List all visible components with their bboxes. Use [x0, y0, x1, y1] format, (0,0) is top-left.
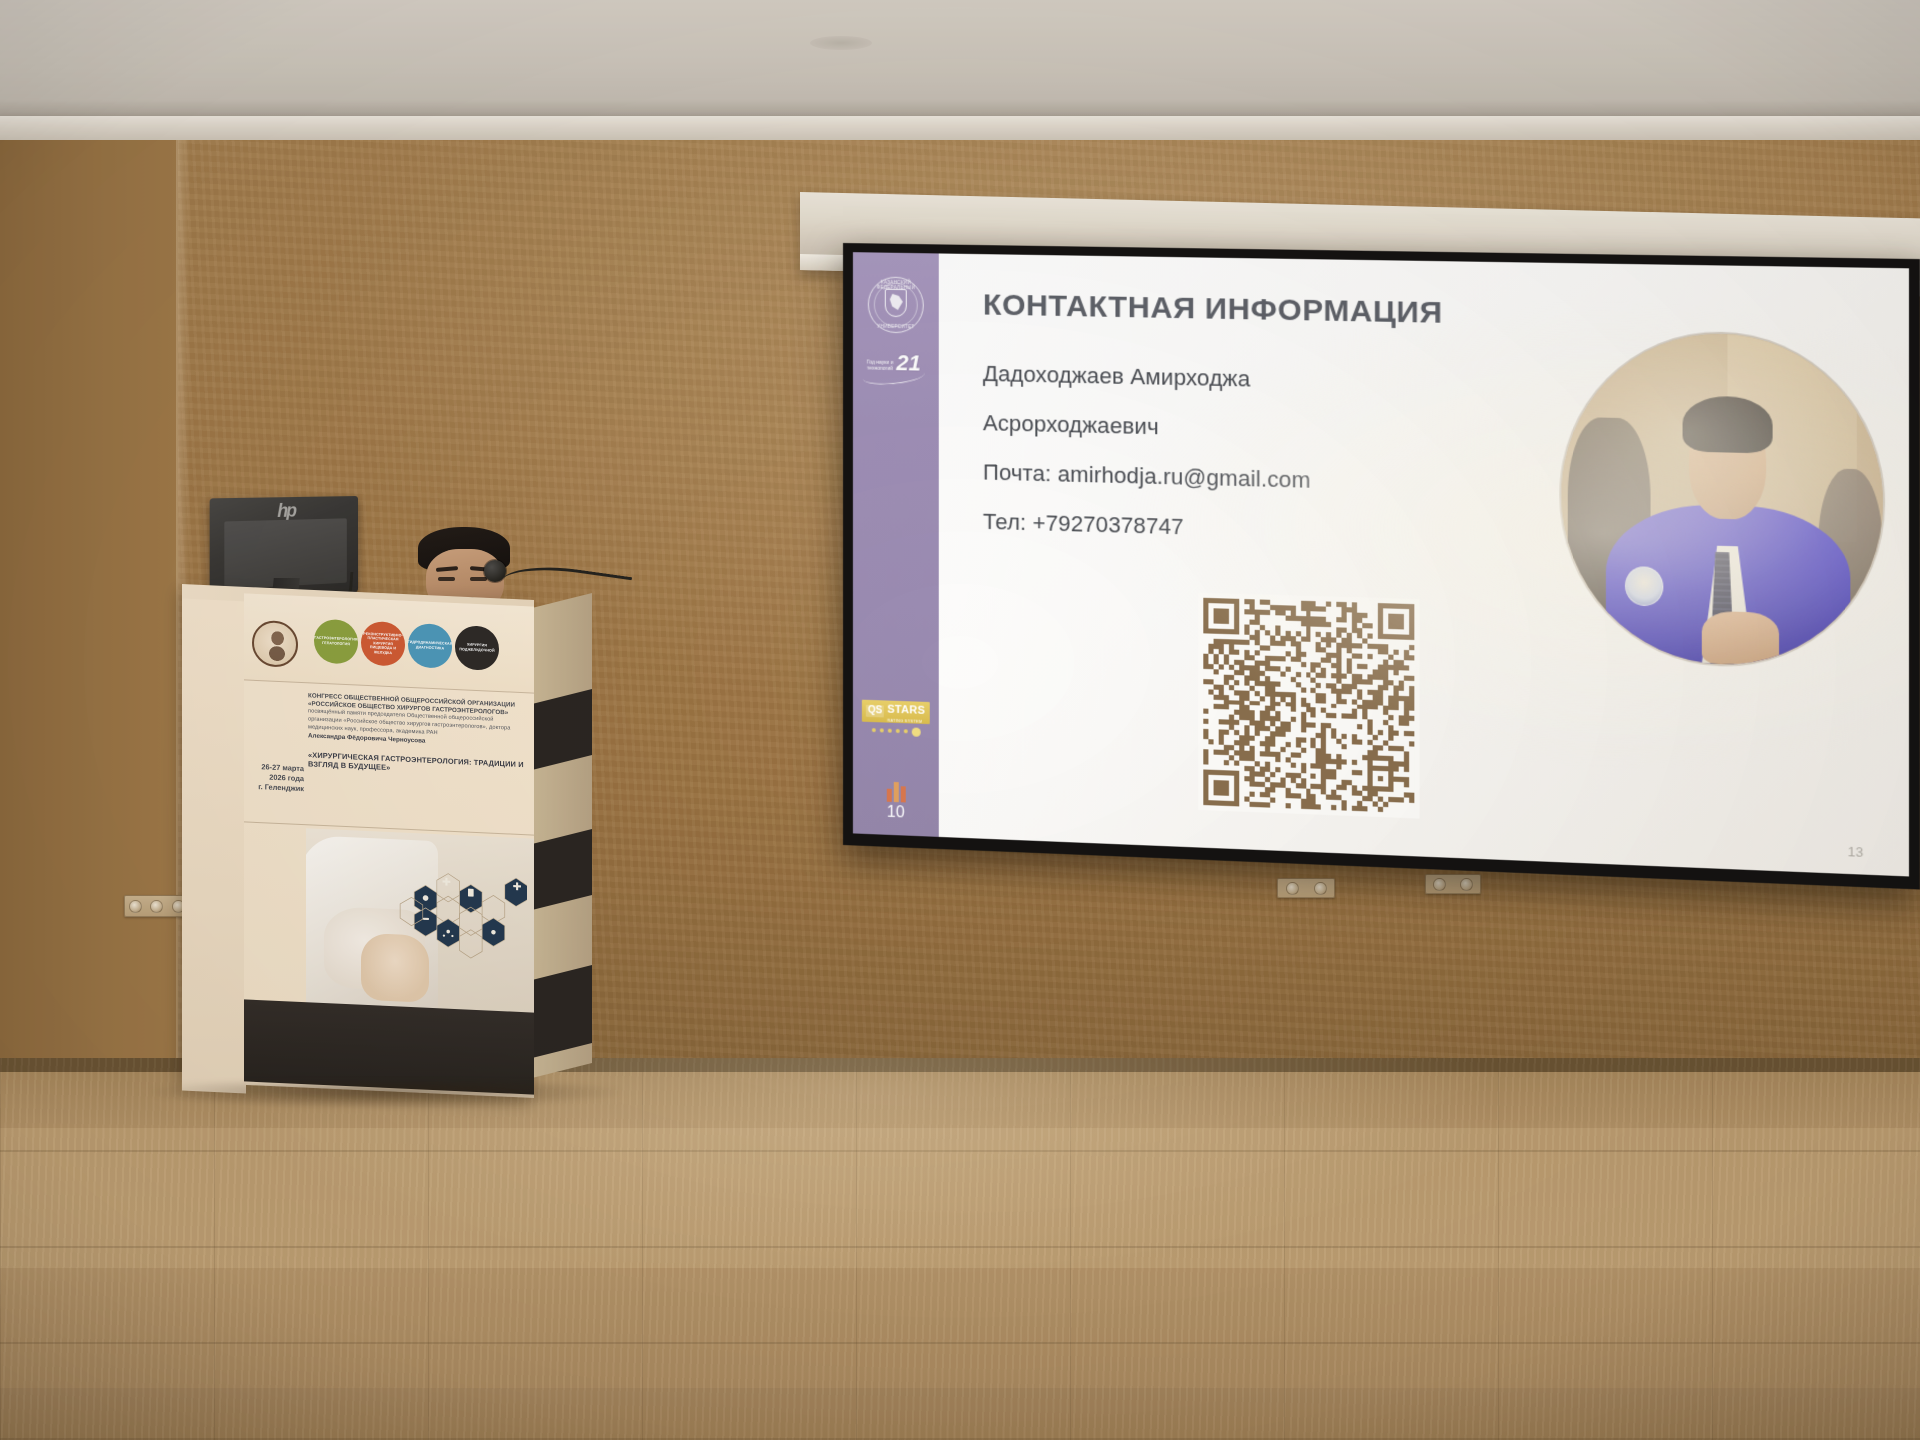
qs-mark-text: QS — [866, 704, 884, 717]
topic-circle-label: ХИРУРГИЯ ПОДЖЕЛУДОЧНОЙ — [459, 643, 494, 654]
projection-screen[interactable]: КАЗАНСКИЙ ФЕДЕРАЛЬНЫЙ УНИВЕРСИТЕТ 21 Год… — [843, 243, 1920, 889]
projection-screen-surface: КАЗАНСКИЙ ФЕДЕРАЛЬНЫЙ УНИВЕРСИТЕТ 21 Год… — [853, 252, 1909, 876]
sign-date-line: г. Геленджик — [246, 782, 304, 795]
floor-light-sheen — [0, 1058, 1920, 1440]
socket-icon — [1286, 882, 1299, 895]
slide: КАЗАНСКИЙ ФЕДЕРАЛЬНЫЙ УНИВЕРСИТЕТ 21 Год… — [853, 252, 1909, 876]
speaker-portrait-photo — [1561, 331, 1882, 669]
topic-circle: ГИДРОДИНАМИЧЕСКАЯ ДИАГНОСТИКА — [408, 623, 452, 669]
lectern-front-left-strip — [182, 599, 246, 1094]
topic-circle-label: ГИДРОДИНАМИЧЕСКАЯ ДИАГНОСТИКА — [408, 640, 453, 651]
ceiling-vent-icon — [810, 36, 872, 50]
qs-star-dots-icon — [871, 726, 920, 737]
socket-icon — [150, 900, 163, 913]
slide-body: КОНТАКТНАЯ ИНФОРМАЦИЯ Дадоходжаев Амирхо… — [939, 253, 1909, 876]
sign-text-block: КОНГРЕСС ОБЩЕСТВЕННОЙ ОБЩЕРОССИЙСКОЙ ОРГ… — [308, 692, 528, 779]
university-crest-icon: КАЗАНСКИЙ ФЕДЕРАЛЬНЫЙ УНИВЕРСИТЕТ — [868, 276, 924, 333]
year-of-science-badge-icon: 21 Год науки и технологий — [863, 350, 929, 387]
lectern-congress-sign: ГАСТРОЭНТЕРОЛОГИЯ ГЕПАТОЛОГИЯ РЕКОНСТРУК… — [244, 593, 534, 1014]
slide-title: КОНТАКТНАЯ ИНФОРМАЦИЯ — [983, 288, 1909, 338]
hp-logo-icon: hp — [277, 501, 295, 520]
topic-circle: ГАСТРОЭНТЕРОЛОГИЯ ГЕПАТОЛОГИЯ — [314, 619, 358, 665]
rank-ten-number: 10 — [887, 804, 905, 821]
lectern-floor-shadow — [150, 1082, 620, 1108]
topic-circle: ХИРУРГИЯ ПОДЖЕЛУДОЧНОЙ — [455, 625, 499, 671]
topic-circle-label: ГАСТРОЭНТЕРОЛОГИЯ ГЕПАТОЛОГИЯ — [314, 636, 357, 647]
wall-power-outlet[interactable] — [1277, 878, 1335, 898]
topic-circle-label: РЕКОНСТРУКТИВНО- ПЛАСТИЧЕСКАЯ ХИРУРГИЯ П… — [363, 631, 403, 656]
socket-icon — [1460, 878, 1473, 891]
qs-stars-badge-icon: QS STARS RATING SYSTEM — [861, 697, 931, 740]
crest-bottom-text: УНИВЕРСИТЕТ — [868, 323, 924, 329]
lectern-side-panel — [532, 593, 592, 1078]
sign-date-block: 26-27 марта 2026 года г. Геленджик — [246, 762, 304, 795]
rank-ten-badge: 10 — [866, 775, 926, 827]
slide-page-number: 13 — [1848, 844, 1864, 860]
badge-year-text: Год науки и технологий — [867, 359, 903, 372]
lectern: ГАСТРОЭНТЕРОЛОГИЯ ГЕПАТОЛОГИЯ РЕКОНСТРУК… — [182, 592, 582, 1102]
scene-root: LUMEN КАЗАНСКИЙ ФЕДЕРАЛЬНЫЙ УНИВЕРСИТЕТ — [0, 0, 1920, 1440]
ceiling-cornice — [0, 116, 1920, 142]
crest-top-text: КАЗАНСКИЙ ФЕДЕРАЛЬНЫЙ — [868, 279, 924, 290]
medical-hexagon-icons — [386, 849, 527, 996]
socket-icon — [1314, 882, 1327, 895]
wall-power-outlet[interactable] — [124, 895, 190, 917]
bar-chart-icon — [886, 781, 905, 802]
socket-icon — [129, 900, 142, 913]
sign-photo-graphic — [306, 828, 534, 1014]
left-wall-panel — [0, 140, 178, 1070]
qs-sub-text: RATING SYSTEM — [887, 718, 925, 724]
topic-circle: РЕКОНСТРУКТИВНО- ПЛАСТИЧЕСКАЯ ХИРУРГИЯ П… — [361, 621, 405, 667]
qr-code[interactable] — [1198, 593, 1419, 819]
slide-sidebar-rail: КАЗАНСКИЙ ФЕДЕРАЛЬНЫЙ УНИВЕРСИТЕТ 21 Год… — [853, 252, 939, 837]
qs-word-text: STARS — [887, 704, 925, 717]
topic-circles: ГАСТРОЭНТЕРОЛОГИЯ ГЕПАТОЛОГИЯ РЕКОНСТРУК… — [314, 619, 499, 671]
lectern-base-band — [244, 999, 534, 1094]
wall-power-outlet[interactable] — [1425, 874, 1481, 894]
socket-icon — [1433, 878, 1446, 891]
sign-theme: «ХИРУРГИЧЕСКАЯ ГАСТРОЭНТЕРОЛОГИЯ: ТРАДИЦ… — [308, 750, 528, 779]
